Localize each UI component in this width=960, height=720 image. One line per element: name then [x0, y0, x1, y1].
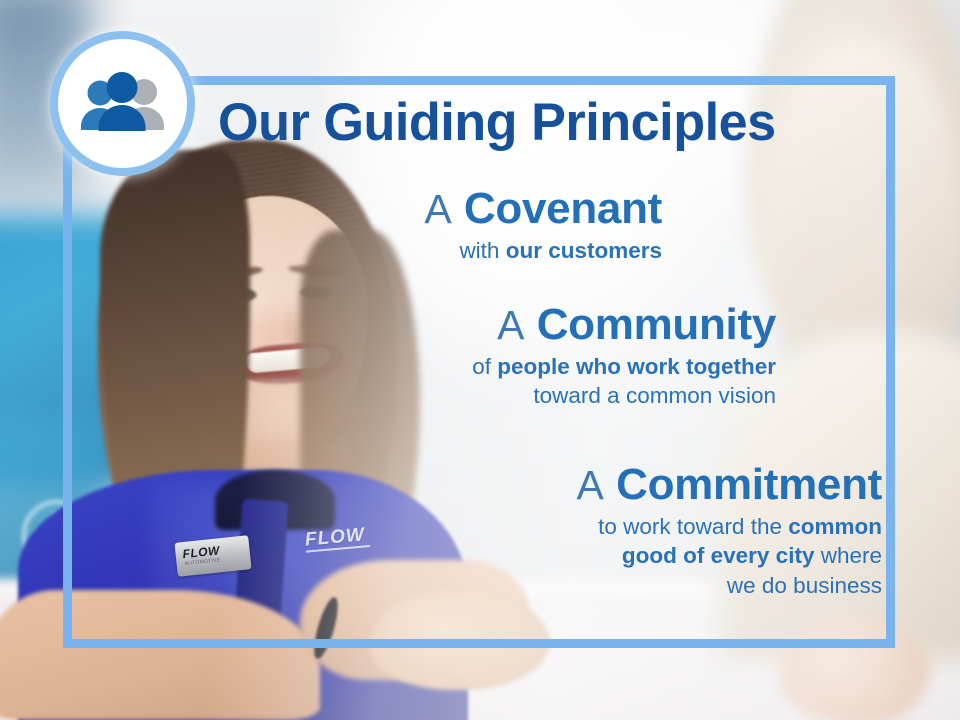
principle-commitment: A Commitment to work toward the common g…: [270, 462, 882, 600]
commitment-l1-s2: common: [788, 514, 882, 539]
principle-commitment-line-3: we do business: [270, 571, 882, 600]
principle-community-subtext: of people who work together toward a com…: [230, 352, 776, 411]
principle-community-line-1: of people who work together: [230, 352, 776, 381]
covenant-l1-s2: our customers: [506, 238, 662, 263]
guiding-principles-poster: FLOW AUTOMOTIVE FLOW Our Guidi: [0, 0, 960, 720]
principle-commitment-word: Commitment: [616, 460, 882, 509]
principle-commitment-line-2: good of every city where: [270, 541, 882, 570]
principle-community-headline: A Community: [230, 302, 776, 348]
principle-commitment-article: A: [577, 462, 604, 508]
covenant-l1-s1: with: [459, 238, 505, 263]
commitment-l2-s1: good of every city: [622, 543, 815, 568]
principle-covenant-subtext: with our customers: [180, 236, 662, 265]
page-title: Our Guiding Principles: [218, 96, 858, 149]
community-l1-s2: people who work together: [497, 354, 776, 379]
principle-community-article: A: [497, 302, 524, 348]
principle-commitment-headline: A Commitment: [270, 462, 882, 508]
commitment-l1-s1: to work toward the: [598, 514, 788, 539]
commitment-l3-s1: we do business: [727, 573, 882, 598]
principle-commitment-line-1: to work toward the common: [270, 512, 882, 541]
principle-covenant-line-1: with our customers: [180, 236, 662, 265]
principle-covenant-word: Covenant: [464, 184, 662, 233]
community-l2-s1: toward a common vision: [533, 383, 776, 408]
principle-covenant-article: A: [424, 186, 451, 232]
commitment-l2-s2: where: [814, 543, 882, 568]
principle-community: A Community of people who work together …: [230, 302, 776, 411]
text-layer: Our Guiding Principles A Covenant with o…: [0, 0, 960, 720]
principle-commitment-subtext: to work toward the common good of every …: [270, 512, 882, 600]
principle-covenant-headline: A Covenant: [180, 186, 662, 232]
principle-covenant: A Covenant with our customers: [180, 186, 662, 265]
principle-community-line-2: toward a common vision: [230, 381, 776, 410]
principle-community-word: Community: [537, 300, 776, 349]
community-l1-s1: of: [472, 354, 497, 379]
